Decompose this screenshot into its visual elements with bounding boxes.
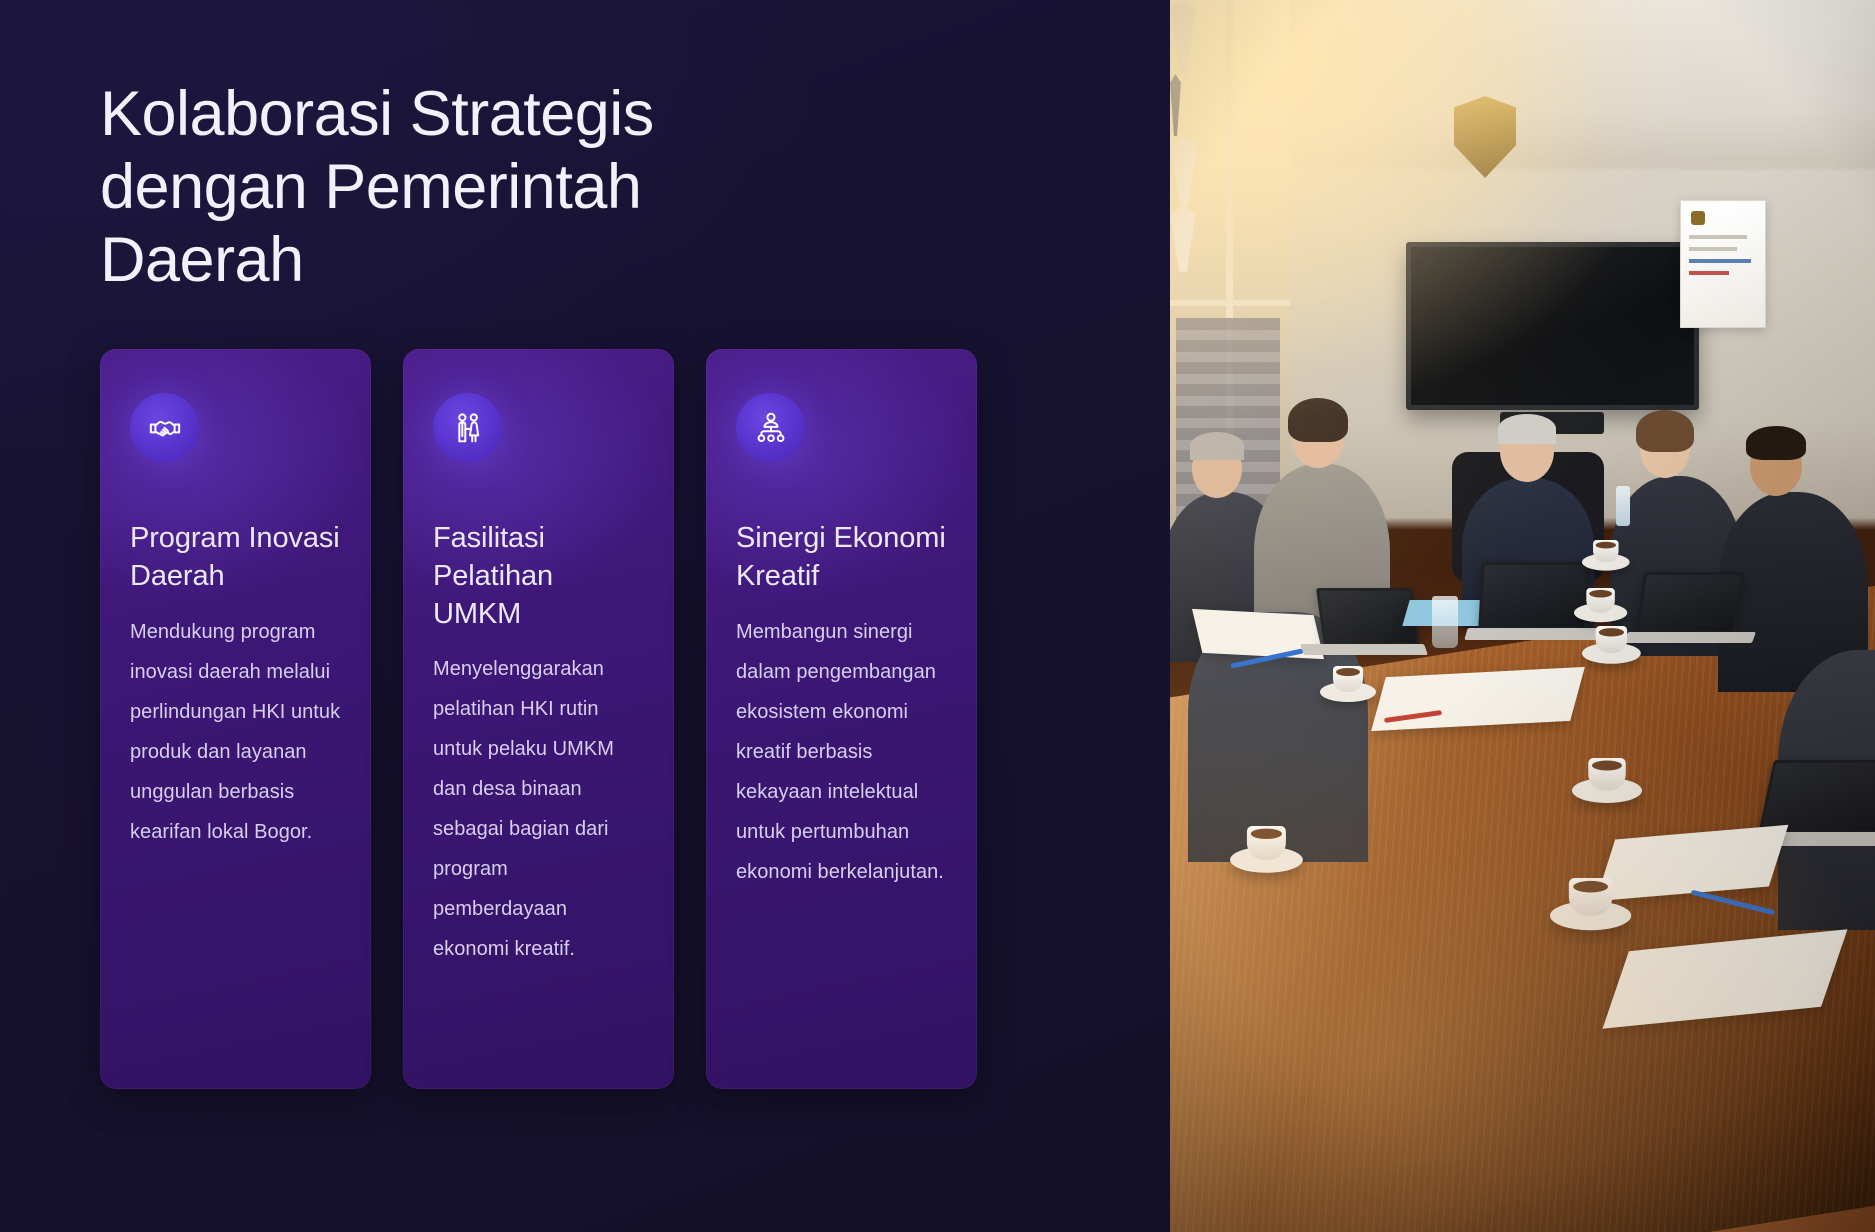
laptop	[1758, 760, 1875, 834]
page-title: Kolaborasi Strategis dengan Pemerintah D…	[100, 78, 860, 297]
network-hierarchy-icon	[736, 393, 805, 462]
feature-card-title: Sinergi Ekonomi Kreatif	[736, 520, 947, 595]
feature-card-program-inovasi-daerah[interactable]: Program Inovasi Daerah Mendukung program…	[100, 349, 371, 1089]
boardroom-photo	[1170, 0, 1875, 1232]
handshake-icon	[130, 393, 199, 462]
person-chairman-hair	[1498, 414, 1556, 444]
laptop-base	[1624, 632, 1756, 643]
content-panel: Kolaborasi Strategis dengan Pemerintah D…	[0, 0, 1170, 1232]
feature-card-title: Fasilitasi Pelatihan UMKM	[433, 520, 644, 633]
feature-card-body: Mendukung program inovasi daerah melalui…	[130, 612, 341, 852]
feature-card-list: Program Inovasi Daerah Mendukung program…	[100, 349, 1170, 1089]
person-right-2-hair	[1746, 426, 1806, 460]
laptop	[1478, 562, 1590, 630]
wall-crest-icon	[1454, 96, 1516, 178]
feature-card-title: Program Inovasi Daerah	[130, 520, 341, 595]
laptop	[1636, 572, 1745, 634]
laptop-base	[1464, 628, 1603, 640]
person-right-1-hair	[1636, 410, 1694, 452]
slide-root: Kolaborasi Strategis dengan Pemerintah D…	[0, 0, 1875, 1232]
papers-stack	[1371, 667, 1585, 731]
laptop-base	[1300, 644, 1428, 655]
water-glass	[1432, 596, 1458, 648]
bottle	[1616, 486, 1630, 526]
feature-card-body: Menyelenggarakan pelatihan HKI rutin unt…	[433, 649, 644, 969]
feature-card-body: Membangun sinergi dalam pengembangan eko…	[736, 612, 947, 892]
person-left-2-hair	[1288, 398, 1348, 442]
feature-card-sinergi-ekonomi-kreatif[interactable]: Sinergi Ekonomi Kreatif Membangun sinerg…	[706, 349, 977, 1089]
two-people-icon	[433, 393, 502, 462]
wall-poster	[1680, 200, 1766, 328]
person-left-1-hair	[1190, 432, 1244, 460]
wall-display-screen	[1406, 242, 1699, 410]
photo-backdrop	[1170, 0, 1875, 1232]
feature-card-fasilitasi-pelatihan-umkm[interactable]: Fasilitasi Pelatihan UMKM Menyelenggarak…	[403, 349, 674, 1089]
